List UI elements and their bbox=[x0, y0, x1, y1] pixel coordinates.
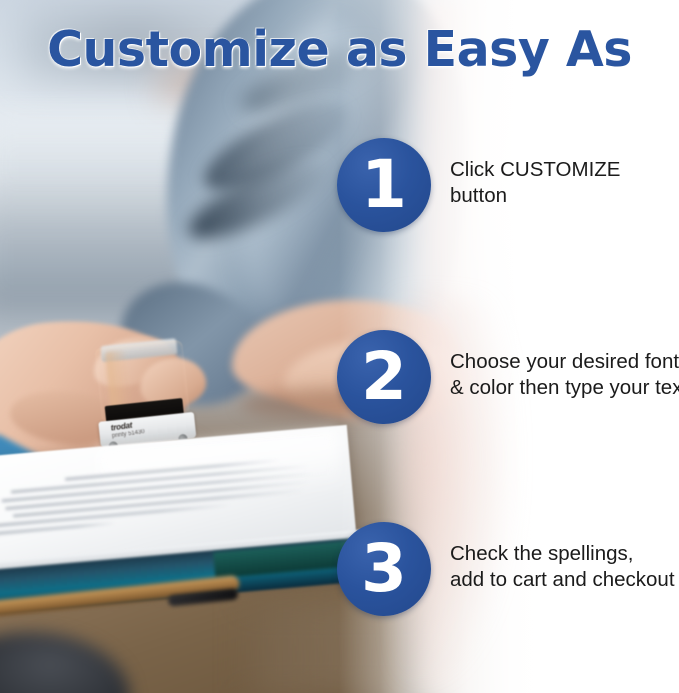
step-3-line-2: add to cart and checkout bbox=[450, 567, 675, 593]
step-1-line-2: button bbox=[450, 183, 620, 209]
step-number-badge-2: 2 bbox=[337, 330, 431, 424]
step-1-line-1: Click CUSTOMIZE bbox=[450, 157, 620, 183]
step-item-1: 1 Click CUSTOMIZE button bbox=[337, 138, 620, 232]
step-number-badge-1: 1 bbox=[337, 138, 431, 232]
step-2-line-2: & color then type your text bbox=[450, 375, 679, 401]
step-2-line-1: Choose your desired font bbox=[450, 349, 679, 375]
page-title: Customize as Easy As bbox=[0, 22, 679, 78]
step-3-line-1: Check the spellings, bbox=[450, 541, 675, 567]
step-description-2: Choose your desired font & color then ty… bbox=[450, 349, 679, 401]
step-description-1: Click CUSTOMIZE button bbox=[450, 157, 620, 209]
step-item-3: 3 Check the spellings, add to cart and c… bbox=[337, 522, 675, 616]
step-number-badge-3: 3 bbox=[337, 522, 431, 616]
step-item-2: 2 Choose your desired font & color then … bbox=[337, 330, 679, 424]
step-description-3: Check the spellings, add to cart and che… bbox=[450, 541, 675, 593]
banner-root: trodat printy 51430 bbox=[0, 0, 679, 693]
